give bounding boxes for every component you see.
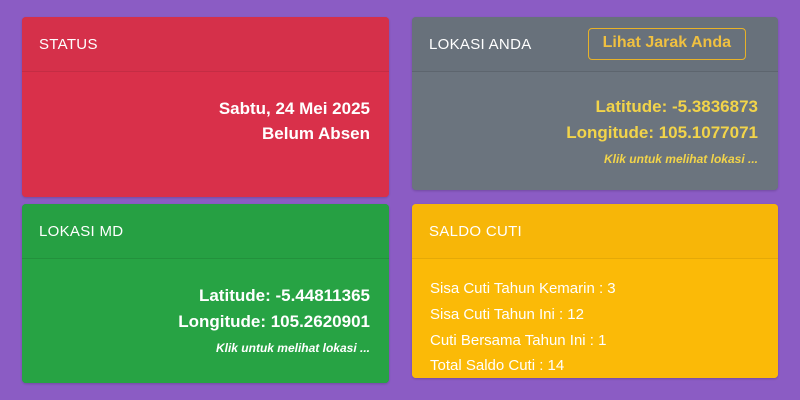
saldo-cuti-card-title: SALDO CUTI <box>429 224 522 239</box>
lihat-jarak-anda-button[interactable]: Lihat Jarak Anda <box>588 28 746 59</box>
saldo-cuti-card: SALDO CUTI Sisa Cuti Tahun Kemarin : 3 S… <box>412 204 778 378</box>
lokasi-md-map-hint[interactable]: Klik untuk melihat lokasi ... <box>216 340 370 357</box>
lokasi-anda-longitude: Longitude: 105.1077071 <box>566 120 758 146</box>
lokasi-anda-card: LOKASI ANDA Lihat Jarak Anda Latitude: -… <box>412 17 778 190</box>
saldo-cuti-item: Sisa Cuti Tahun Ini : 12 <box>430 302 584 328</box>
saldo-cuti-item: Sisa Cuti Tahun Kemarin : 3 <box>430 276 616 302</box>
saldo-cuti-item: Cuti Bersama Tahun Ini : 1 <box>430 328 606 354</box>
lokasi-anda-latitude: Latitude: -5.3836873 <box>595 94 758 120</box>
lokasi-md-card: LOKASI MD Latitude: -5.44811365 Longitud… <box>22 204 389 383</box>
saldo-cuti-item: Total Saldo Cuti : 14 <box>430 353 564 378</box>
lokasi-anda-card-body[interactable]: Latitude: -5.3836873 Longitude: 105.1077… <box>412 72 778 190</box>
dashboard-card-grid: STATUS Sabtu, 24 Mei 2025 Belum Absen LO… <box>0 0 800 400</box>
status-card-title: STATUS <box>39 37 98 52</box>
lokasi-md-card-body[interactable]: Latitude: -5.44811365 Longitude: 105.262… <box>22 259 389 383</box>
lokasi-md-card-header: LOKASI MD <box>22 204 389 259</box>
lokasi-anda-card-title: LOKASI ANDA <box>429 37 532 52</box>
status-date: Sabtu, 24 Mei 2025 <box>219 97 370 122</box>
lokasi-anda-card-header: LOKASI ANDA Lihat Jarak Anda <box>412 17 778 72</box>
status-attendance-state: Belum Absen <box>262 122 370 147</box>
lokasi-md-latitude: Latitude: -5.44811365 <box>199 283 370 309</box>
lokasi-md-card-title: LOKASI MD <box>39 224 123 239</box>
saldo-cuti-card-header: SALDO CUTI <box>412 204 778 259</box>
lokasi-anda-map-hint[interactable]: Klik untuk melihat lokasi ... <box>604 151 758 168</box>
status-card: STATUS Sabtu, 24 Mei 2025 Belum Absen <box>22 17 389 197</box>
lokasi-md-longitude: Longitude: 105.2620901 <box>178 309 370 335</box>
status-card-header: STATUS <box>22 17 389 72</box>
status-card-body: Sabtu, 24 Mei 2025 Belum Absen <box>22 72 389 197</box>
saldo-cuti-card-body: Sisa Cuti Tahun Kemarin : 3 Sisa Cuti Ta… <box>412 259 778 378</box>
